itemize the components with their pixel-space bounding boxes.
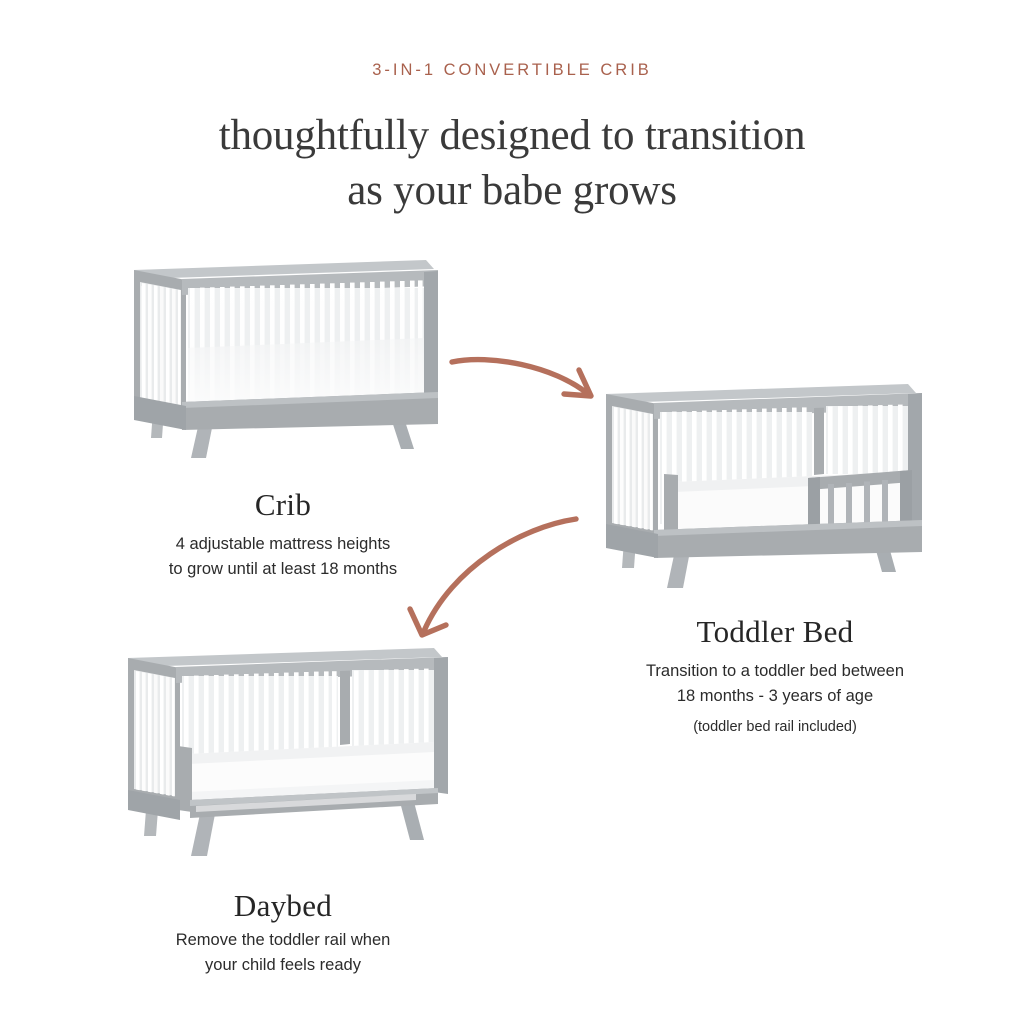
- daybed-front-left-block: [178, 746, 192, 812]
- daybed-illustration: [116, 642, 460, 864]
- toddler-rear-right-slats: [826, 405, 908, 475]
- toddler-bed-caption-body: Transition to a toddler bed between 18 m…: [575, 659, 975, 709]
- eyebrow-label: 3-IN-1 CONVERTIBLE CRIB: [0, 61, 1024, 80]
- headline-line-1: thoughtfully designed to transition: [0, 108, 1024, 163]
- daybed-caption-body: Remove the toddler rail when your child …: [123, 928, 443, 978]
- crib-caption-body-line-2: to grow until at least 18 months: [113, 557, 453, 582]
- toddler-center-post: [814, 408, 824, 475]
- toddler-bed-caption-note: (toddler bed rail included): [575, 716, 975, 738]
- daybed-caption-body-line-1: Remove the toddler rail when: [123, 928, 443, 953]
- daybed-right-post: [434, 657, 448, 794]
- crib-illustration: [126, 252, 450, 474]
- crib-caption-body-line-1: 4 adjustable mattress heights: [113, 532, 453, 557]
- toddler-bed-caption-title: Toddler Bed: [610, 614, 940, 650]
- arrow-crib-to-toddler: [448, 348, 618, 410]
- crib-left-slats: [140, 282, 181, 407]
- infographic-canvas: 3-IN-1 CONVERTIBLE CRIB thoughtfully des…: [0, 0, 1024, 1024]
- toddler-bed-caption-body-line-2: 18 months - 3 years of age: [575, 684, 975, 709]
- headline-line-2: as your babe grows: [0, 163, 1024, 218]
- daybed-caption-title: Daybed: [133, 888, 433, 924]
- page-title: thoughtfully designed to transition as y…: [0, 108, 1024, 218]
- crib-caption-title: Crib: [133, 487, 433, 523]
- toddler-bed-illustration: [596, 378, 940, 600]
- daybed-center-post: [340, 671, 350, 745]
- crib-caption-body: 4 adjustable mattress heights to grow un…: [113, 532, 453, 582]
- toddler-bed-caption-body-line-1: Transition to a toddler bed between: [575, 659, 975, 684]
- daybed-caption-body-line-2: your child feels ready: [123, 953, 443, 978]
- toddler-left-slats: [612, 406, 653, 531]
- daybed-left-slats: [134, 670, 175, 797]
- daybed-rear-right-slats: [352, 669, 434, 749]
